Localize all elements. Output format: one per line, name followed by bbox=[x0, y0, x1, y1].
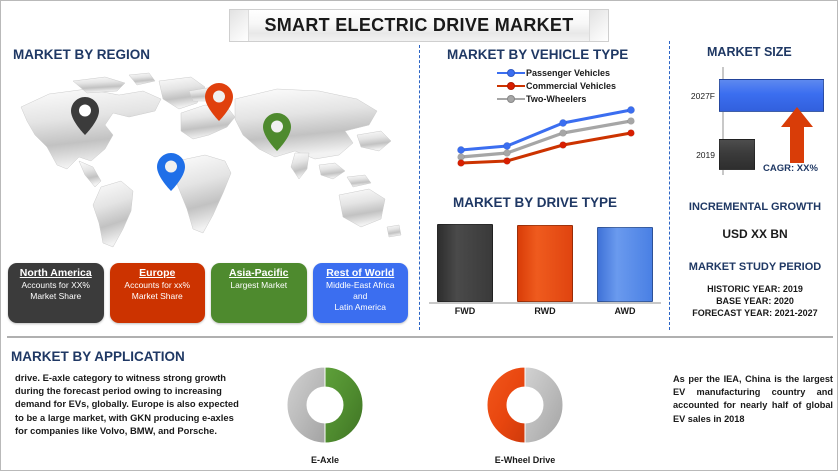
divider-middle-right bbox=[669, 41, 670, 330]
bar-column-fwd[interactable] bbox=[437, 224, 493, 302]
divider-horizontal bbox=[7, 336, 833, 338]
incremental-growth-heading: INCREMENTAL GROWTH bbox=[673, 201, 837, 213]
bar-label-fwd: FWD bbox=[437, 306, 493, 316]
region-name: North America bbox=[20, 267, 92, 280]
donut-label-e-wheel-drive: E-Wheel Drive bbox=[479, 455, 571, 465]
region-sub-line: Market Share bbox=[30, 291, 81, 302]
study-period-block: MARKET STUDY PERIOD bbox=[673, 261, 837, 273]
donut-e-axle-graphic[interactable] bbox=[279, 363, 371, 447]
vehicle-type-plot bbox=[435, 65, 663, 181]
donut-e-axle: E-Axle bbox=[279, 363, 371, 465]
page-title: SMART ELECTRIC DRIVE MARKET bbox=[264, 15, 573, 36]
bar-awd[interactable] bbox=[597, 227, 653, 302]
infographic-page: SMART ELECTRIC DRIVE MARKET MARKET BY RE… bbox=[0, 0, 838, 471]
market-size-chart: 2027F 2019 bbox=[677, 67, 833, 175]
europe-pin[interactable] bbox=[205, 83, 233, 121]
bar-label-rwd: RWD bbox=[517, 306, 573, 316]
region-box-north-america[interactable]: North America Accounts for XX% Market Sh… bbox=[8, 263, 104, 323]
market-size-heading: MARKET SIZE bbox=[707, 45, 792, 59]
drive-type-labels: FWD RWD AWD bbox=[425, 306, 665, 316]
north-america-pin[interactable] bbox=[71, 97, 99, 135]
cagr-label: CAGR: XX% bbox=[763, 163, 818, 174]
asia-pacific-pin[interactable] bbox=[263, 113, 291, 151]
donut-e-wheel-drive-graphic[interactable] bbox=[479, 363, 571, 447]
drive-type-bars bbox=[425, 216, 665, 302]
incremental-growth-block: INCREMENTAL GROWTH bbox=[673, 201, 837, 213]
iea-note: As per the IEA, China is the largest EV … bbox=[673, 373, 833, 426]
region-sub-line: Accounts for XX% bbox=[21, 280, 90, 291]
divider-left-middle bbox=[419, 45, 420, 330]
donut-label-e-axle: E-Axle bbox=[279, 455, 371, 465]
market-by-vehicle-type-heading: MARKET BY VEHICLE TYPE bbox=[447, 47, 628, 62]
bar-label-awd: AWD bbox=[597, 306, 653, 316]
market-size-tick-2019: 2019 bbox=[677, 150, 719, 160]
region-sub-line: and bbox=[353, 291, 367, 302]
market-size-tick-2027: 2027F bbox=[677, 91, 719, 101]
region-name: Asia-Pacific bbox=[229, 267, 289, 280]
market-by-region-heading: MARKET BY REGION bbox=[13, 47, 150, 62]
incremental-growth-value: USD XX BN bbox=[673, 227, 837, 241]
region-box-asia-pacific[interactable]: Asia-Pacific Largest Market bbox=[211, 263, 307, 323]
region-name: Europe bbox=[139, 267, 175, 280]
region-sub-line: Middle-East Africa bbox=[326, 280, 395, 291]
region-box-rest-of-world[interactable]: Rest of World Middle-East Africa and Lat… bbox=[313, 263, 409, 323]
market-size-bar-2019[interactable] bbox=[719, 139, 755, 170]
region-box-europe[interactable]: Europe Accounts for xx% Market Share bbox=[110, 263, 206, 323]
world-map bbox=[9, 69, 413, 254]
donut-e-wheel-drive: E-Wheel Drive bbox=[479, 363, 571, 465]
title-banner-plate: SMART ELECTRIC DRIVE MARKET bbox=[229, 9, 609, 42]
bar-column-awd[interactable] bbox=[597, 227, 653, 302]
region-sub-line: Market Share bbox=[132, 291, 183, 302]
growth-arrow-icon bbox=[781, 107, 813, 168]
study-period-base-year: BASE YEAR: 2020 bbox=[673, 295, 837, 307]
drive-type-bar-chart: FWD RWD AWD bbox=[425, 216, 665, 324]
study-period-lines: HISTORIC YEAR: 2019 BASE YEAR: 2020 FORE… bbox=[673, 283, 837, 319]
region-name: Rest of World bbox=[326, 267, 394, 280]
vehicle-type-line-chart: Passenger Vehicles Commercial Vehicles T… bbox=[435, 65, 663, 181]
title-banner: SMART ELECTRIC DRIVE MARKET bbox=[229, 9, 609, 42]
incremental-growth-value-block: USD XX BN bbox=[673, 227, 837, 241]
region-boxes: North America Accounts for XX% Market Sh… bbox=[8, 263, 408, 323]
region-sub-line: Largest Market bbox=[230, 280, 287, 291]
region-sub-line: Latin America bbox=[335, 302, 387, 313]
application-description: drive. E-axle category to witness strong… bbox=[15, 371, 239, 437]
drive-type-axis bbox=[429, 302, 661, 304]
study-period-heading: MARKET STUDY PERIOD bbox=[673, 261, 837, 273]
bar-rwd[interactable] bbox=[517, 225, 573, 302]
market-by-drive-type-heading: MARKET BY DRIVE TYPE bbox=[453, 195, 617, 210]
bar-fwd[interactable] bbox=[437, 224, 493, 302]
study-period-forecast-year: FORECAST YEAR: 2021-2027 bbox=[673, 307, 837, 319]
rest-of-world-pin[interactable] bbox=[157, 153, 185, 191]
market-by-application-heading: MARKET BY APPLICATION bbox=[11, 349, 185, 364]
bar-column-rwd[interactable] bbox=[517, 225, 573, 302]
study-period-historic-year: HISTORIC YEAR: 2019 bbox=[673, 283, 837, 295]
region-sub-line: Accounts for xx% bbox=[124, 280, 190, 291]
